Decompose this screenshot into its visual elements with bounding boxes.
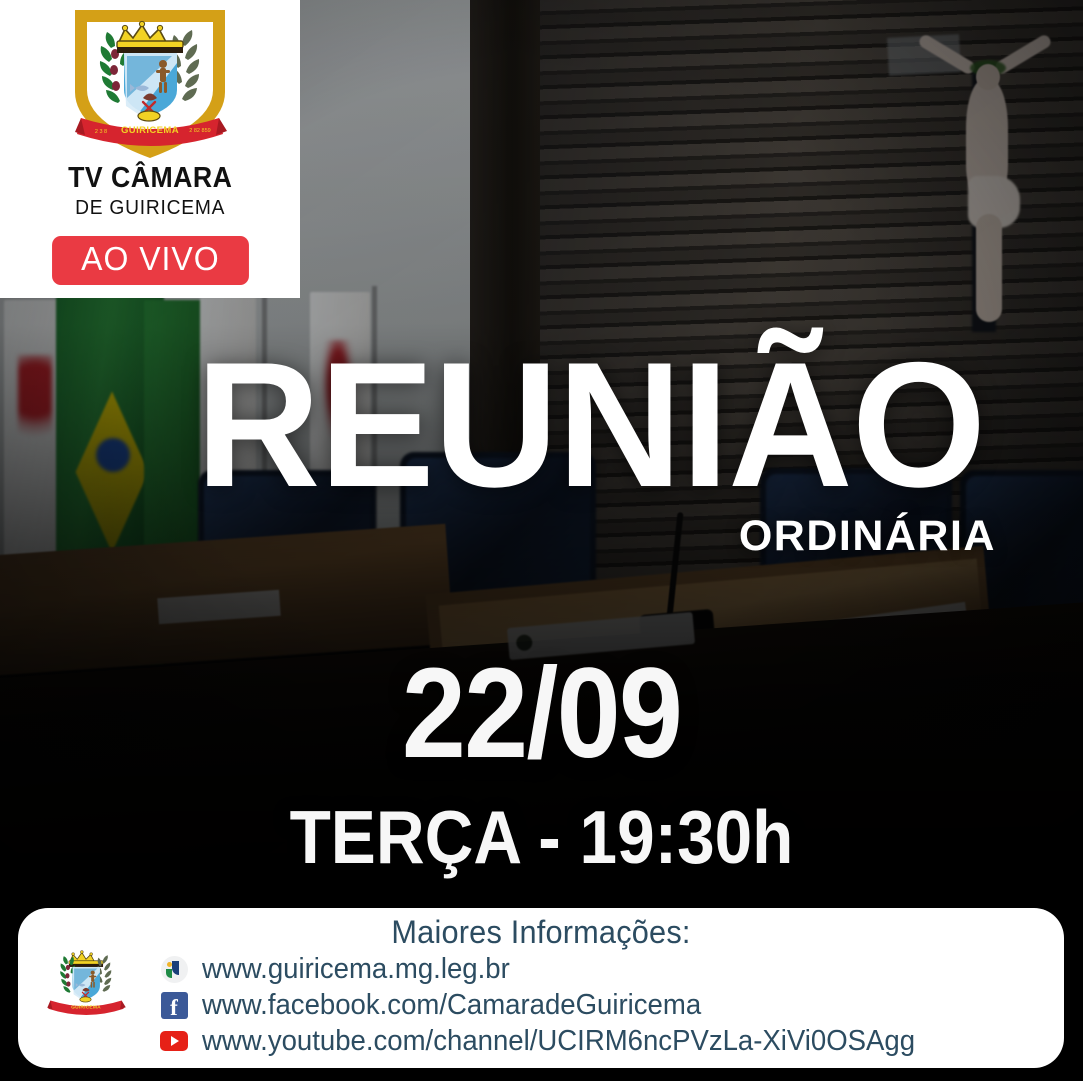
youtube-url[interactable]: www.youtube.com/channel/UCIRM6ncPVzLa-Xi… (202, 1027, 915, 1056)
svg-text:2 82 859: 2 82 859 (189, 128, 210, 134)
event-day-time: TERÇA - 19:30h (54, 800, 1029, 875)
website-icon (160, 955, 188, 983)
facebook-icon: f (160, 991, 188, 1019)
youtube-icon (160, 1027, 188, 1055)
svg-text:GUIRICEMA: GUIRICEMA (71, 1004, 101, 1010)
list-item[interactable]: f www.facebook.com/CamaradeGuiricema (160, 987, 1052, 1023)
svg-text:GUIRICEMA: GUIRICEMA (121, 125, 179, 136)
headline-block: REUNIÃO ORDINÁRIA (0, 352, 1010, 561)
more-info-card: Maiores Informações: (18, 908, 1064, 1068)
list-item[interactable]: www.guiricema.mg.leg.br (160, 951, 1052, 987)
logo-subtitle: DE GUIRICEMA (75, 197, 225, 220)
logo-title: TV CÂMARA (68, 164, 232, 193)
date-block: 22/09 TERÇA - 19:30h (0, 650, 1083, 875)
page-title: REUNIÃO (15, 352, 995, 498)
list-item[interactable]: www.youtube.com/channel/UCIRM6ncPVzLa-Xi… (160, 1023, 1052, 1059)
guiricema-coat-of-arms: GUIRICEMA 2 3 8 2 82 859 (57, 6, 243, 166)
tv-camara-logo-card: GUIRICEMA 2 3 8 2 82 859 TV CÂMARA DE GU… (0, 0, 300, 298)
svg-text:2 3 8: 2 3 8 (95, 129, 107, 135)
website-url[interactable]: www.guiricema.mg.leg.br (202, 955, 510, 984)
live-session-poster: GUIRICEMA 2 3 8 2 82 859 TV CÂMARA DE GU… (0, 0, 1083, 1081)
live-badge: AO VIVO (52, 236, 249, 285)
event-date: 22/09 (54, 650, 1029, 778)
facebook-url[interactable]: www.facebook.com/CamaradeGuiricema (202, 991, 701, 1020)
more-info-title: Maiores Informações: (39, 908, 1043, 951)
contact-links-list: www.guiricema.mg.leg.br f www.facebook.c… (160, 951, 1052, 1059)
facebook-glyph: f (161, 992, 188, 1019)
